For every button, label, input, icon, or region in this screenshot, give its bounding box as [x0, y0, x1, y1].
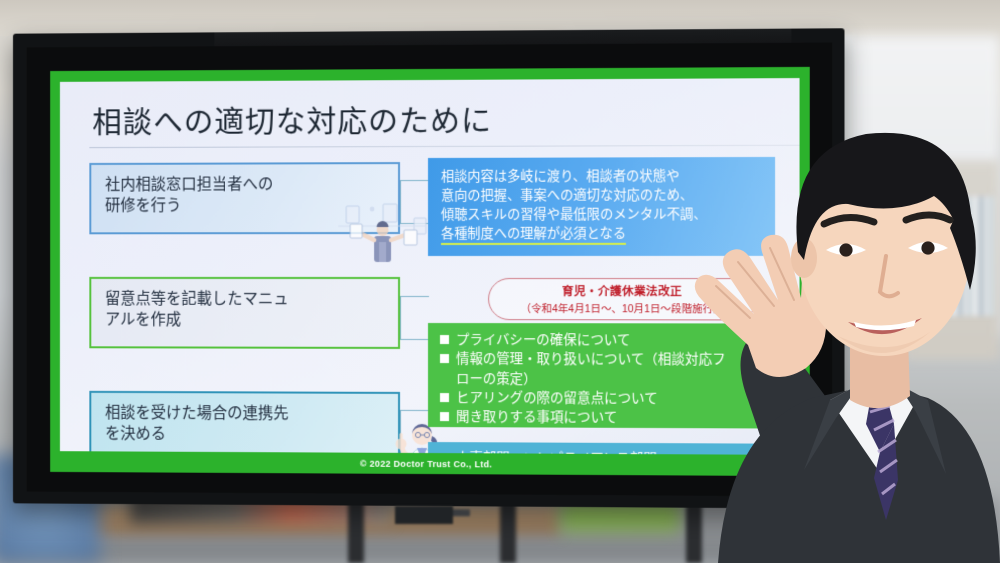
blue-panel-line2: 意向の把握、事案への適切な対応のため、: [441, 185, 764, 205]
list-item: ヒアリングの際の留意点について: [440, 388, 765, 409]
green-bullet-list: プライバシーの確保について 情報の管理・取り扱いについて（相談対応フ ローの策定…: [440, 330, 765, 428]
connector-bracket: [400, 296, 429, 340]
list-item: 情報の管理・取り扱いについて（相談対応フ: [440, 349, 765, 369]
left-box-training-line1: 社内相談窓口担当者への: [105, 174, 386, 196]
square-bullet-icon: [440, 354, 449, 363]
stand-leg: [348, 500, 364, 563]
left-box-coordination: 相談を受けた場合の連携先 を決める: [89, 391, 400, 455]
slide-footer: © 2022 Doctor Trust Co., Ltd.: [60, 451, 800, 476]
businessman-with-documents-illustration: [328, 202, 438, 262]
law-callout-subtitle: （令和4年4月1日～、10月1日～段階施行）: [521, 300, 724, 315]
list-item-continuation: ローの策定）: [440, 369, 765, 389]
wall-mounted-display: 相談への適切な対応のために 社内相談窓口担当者への 研修を行う 留意点等を記載し…: [13, 28, 844, 508]
books: [915, 196, 995, 316]
presentation-slide: 相談への適切な対応のために 社内相談窓口担当者への 研修を行う 留意点等を記載し…: [50, 67, 810, 476]
law-callout-title: 育児・介護休業法改正: [562, 283, 682, 299]
green-item-text: 情報の管理・取り扱いについて（相談対応フ: [456, 349, 726, 369]
list-item: プライバシーの確保について: [440, 330, 765, 350]
list-item: 聞き取りする事項について: [440, 407, 765, 428]
green-item-text: 聞き取りする事項について: [456, 407, 617, 427]
green-item-text: ヒアリングの際の留意点について: [456, 388, 658, 408]
slide-content-area: 相談への適切な対応のために 社内相談窓口担当者への 研修を行う 留意点等を記載し…: [60, 78, 800, 455]
green-item-text: プライバシーの確保について: [456, 330, 630, 350]
left-box-manual: 留意点等を記載したマニュ アルを作成: [89, 277, 400, 349]
left-box-coordination-line1: 相談を受けた場合の連携先: [105, 403, 386, 425]
blue-explanation-panel: 相談内容は多岐に渡り、相談者の状態や 意向の把握、事案への適切な対応のため、 傾…: [428, 157, 775, 256]
stand-leg: [686, 500, 702, 563]
blue-panel-line1: 相談内容は多岐に渡り、相談者の状態や: [441, 166, 764, 186]
copyright-text: © 2022 Doctor Trust Co., Ltd.: [360, 458, 492, 469]
stand-leg: [500, 500, 516, 563]
display-panel: 相談への適切な対応のために 社内相談窓口担当者への 研修を行う 留意点等を記載し…: [27, 42, 833, 496]
title-divider: [89, 145, 799, 148]
display-stand-neck: [395, 506, 453, 524]
square-bullet-icon: [440, 393, 449, 402]
square-bullet-icon: [440, 412, 449, 421]
page-title: 相談への適切な対応のために: [92, 96, 492, 141]
green-bullet-panel: プライバシーの確保について 情報の管理・取り扱いについて（相談対応フ ローの策定…: [428, 323, 775, 429]
teal-bullet-panel: 人事部門・コンプライアンス部門 産業医・保健師・カウンセラー: [428, 442, 775, 455]
window-mullion: [845, 36, 852, 336]
blue-panel-line4: 各種制度への理解が必須となる: [441, 224, 626, 245]
blue-panel-line3: 傾聴スキルの習得や最低限のメンタル不調、: [441, 204, 764, 224]
left-box-manual-line1: 留意点等を記載したマニュ: [105, 289, 386, 311]
square-bullet-icon: [440, 335, 449, 344]
left-box-manual-line2: アルを作成: [105, 310, 386, 332]
stand-leg: [792, 500, 808, 563]
law-revision-callout: 育児・介護休業法改正 （令和4年4月1日～、10月1日～段階施行）: [488, 278, 757, 320]
green-item-text: ローの策定）: [456, 369, 537, 389]
left-box-coordination-line2: を決める: [105, 424, 386, 447]
